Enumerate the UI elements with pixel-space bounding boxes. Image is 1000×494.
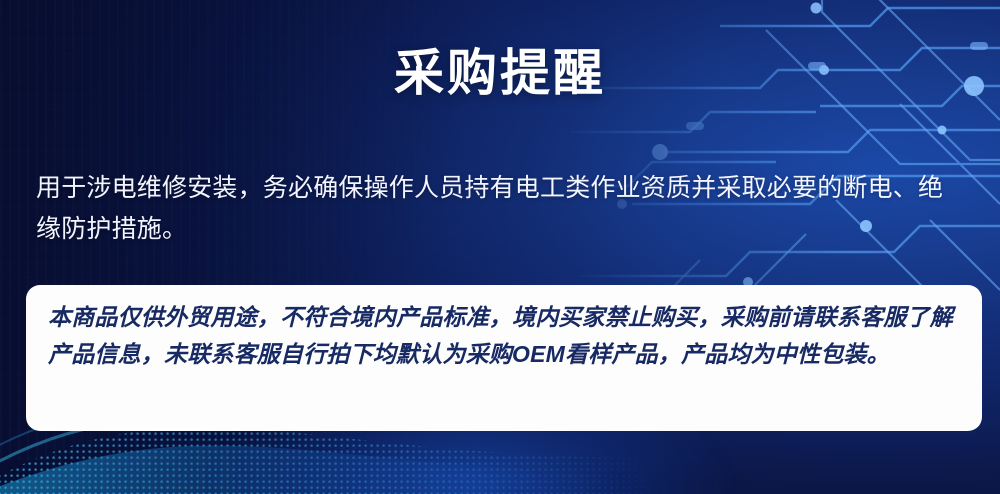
purchase-reminder-banner: 采购提醒 用于涉电维修安装，务必确保操作人员持有电工类作业资质并采取必要的断电、… xyxy=(0,0,1000,494)
trade-notice-box: 本商品仅供外贸用途，不符合境内产品标准，境内买家禁止购买，采购前请联系客服了解产… xyxy=(26,285,982,431)
page-title: 采购提醒 xyxy=(0,48,1000,98)
safety-notice-paragraph: 用于涉电维修安装，务必确保操作人员持有电工类作业资质并采取必要的断电、绝缘防护措… xyxy=(36,168,966,250)
trade-notice-text: 本商品仅供外贸用途，不符合境内产品标准，境内买家禁止购买，采购前请联系客服了解产… xyxy=(48,299,960,373)
banner-content: 采购提醒 用于涉电维修安装，务必确保操作人员持有电工类作业资质并采取必要的断电、… xyxy=(0,0,1000,494)
